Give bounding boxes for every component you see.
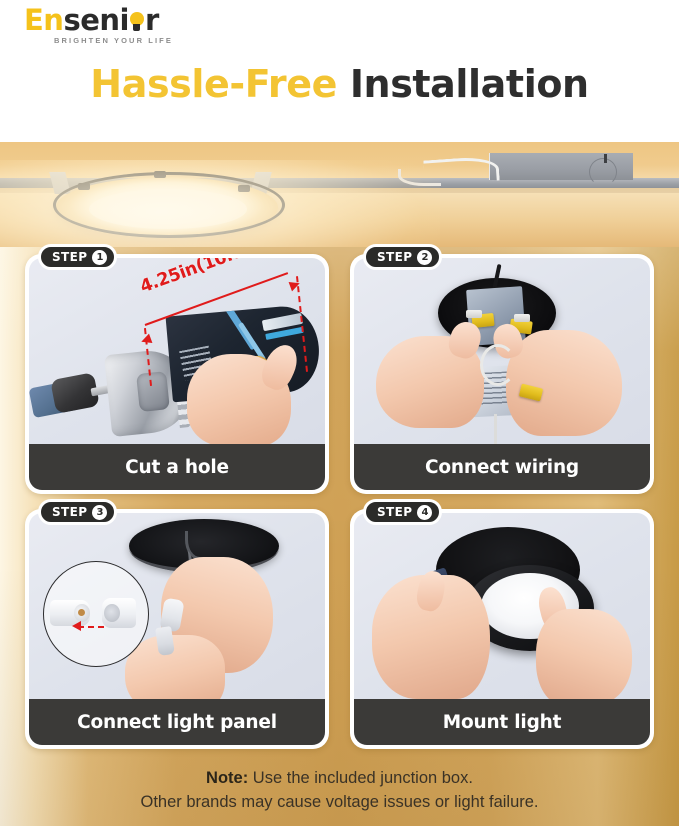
installed-light-fixture [56, 177, 278, 238]
saw-slot [136, 371, 170, 412]
step-2-badge-label: STEP [377, 250, 412, 264]
light-tab [78, 183, 90, 190]
lightbulb-icon [129, 11, 145, 33]
stripped-wire [514, 314, 530, 322]
insertion-arrow-head [72, 621, 81, 631]
screw-icon [604, 154, 607, 163]
hero-ceiling-banner [0, 142, 679, 247]
headline-rest: Installation [350, 62, 589, 106]
light-tab [154, 171, 166, 178]
note-line-2: Other brands may cause voltage issues or… [0, 790, 679, 814]
step-3-number: 3 [92, 505, 107, 520]
step-3-caption: Connect light panel [29, 699, 325, 745]
hanging-wire [494, 414, 497, 444]
junction-box [489, 153, 633, 180]
step-2-illustration [354, 258, 650, 444]
logo-wordmark: Ensenir [24, 5, 169, 35]
step-card-2-inner: Connect wiring [354, 258, 650, 490]
logo-suffix-b: r [145, 3, 159, 37]
page-header: Ensenir BRIGHTEN YOUR LIFE Hassle-Free I… [0, 0, 679, 142]
light-lens [89, 189, 247, 229]
knockout-icon [589, 158, 617, 186]
note-line-1: Use the included junction box. [248, 769, 473, 787]
insertion-arrow-line [78, 626, 104, 628]
brand-logo: Ensenir BRIGHTEN YOUR LIFE [24, 5, 169, 47]
note-label: Note: [206, 769, 248, 787]
headline-highlight: Hassle-Free [90, 62, 337, 106]
hand-lower [125, 635, 225, 699]
zoom-inset-circle [43, 561, 149, 667]
step-2-caption: Connect wiring [354, 444, 650, 490]
step-1-illustration: 4.25in(10.8cm) [29, 258, 325, 444]
step-card-4-inner: Mount light [354, 513, 650, 745]
step-4-badge: STEP 4 [363, 499, 442, 525]
step-3-badge-label: STEP [52, 505, 87, 519]
hand-right [536, 609, 632, 699]
dimension-arrow-right [289, 279, 302, 292]
step-1-caption: Cut a hole [29, 444, 325, 490]
step-4-badge-label: STEP [377, 505, 412, 519]
step-1-badge: STEP 1 [38, 244, 117, 270]
step-4-caption: Mount light [354, 699, 650, 745]
dimension-arrow-left [140, 334, 153, 347]
step-card-1-inner: 4.25in(10.8cm) Cut a hole [29, 258, 325, 490]
step-3-badge: STEP 3 [38, 499, 117, 525]
stripped-wire [466, 310, 482, 318]
connector-plug-hole [104, 604, 120, 622]
step-card-3[interactable]: Connect light panel STEP 3 [25, 509, 329, 749]
page-title: Hassle-Free Installation [0, 62, 679, 106]
step-card-4[interactable]: Mount light STEP 4 [350, 509, 654, 749]
step-2-badge: STEP 2 [363, 244, 442, 270]
step-1-badge-label: STEP [52, 250, 87, 264]
step-card-1[interactable]: 4.25in(10.8cm) Cut a hole STEP 1 [25, 254, 329, 494]
connector-pin [78, 609, 85, 616]
logo-prefix: En [24, 3, 63, 37]
dimension-label: 4.25in(10.8cm) [138, 258, 280, 297]
brand-tagline: BRIGHTEN YOUR LIFE [54, 36, 173, 45]
logo-suffix-a: seni [63, 3, 129, 37]
white-cable [480, 344, 516, 386]
step-3-illustration [29, 513, 325, 699]
step-4-number: 4 [417, 505, 432, 520]
steps-grid: 4.25in(10.8cm) Cut a hole STEP 1 [25, 254, 654, 760]
light-tab [238, 185, 250, 192]
step-2-number: 2 [417, 250, 432, 265]
step-1-number: 1 [92, 250, 107, 265]
step-card-3-inner: Connect light panel [29, 513, 325, 745]
step-card-2[interactable]: Connect wiring STEP 2 [350, 254, 654, 494]
step-4-illustration [354, 513, 650, 699]
footer-note: Note: Use the included junction box. Oth… [0, 766, 679, 814]
